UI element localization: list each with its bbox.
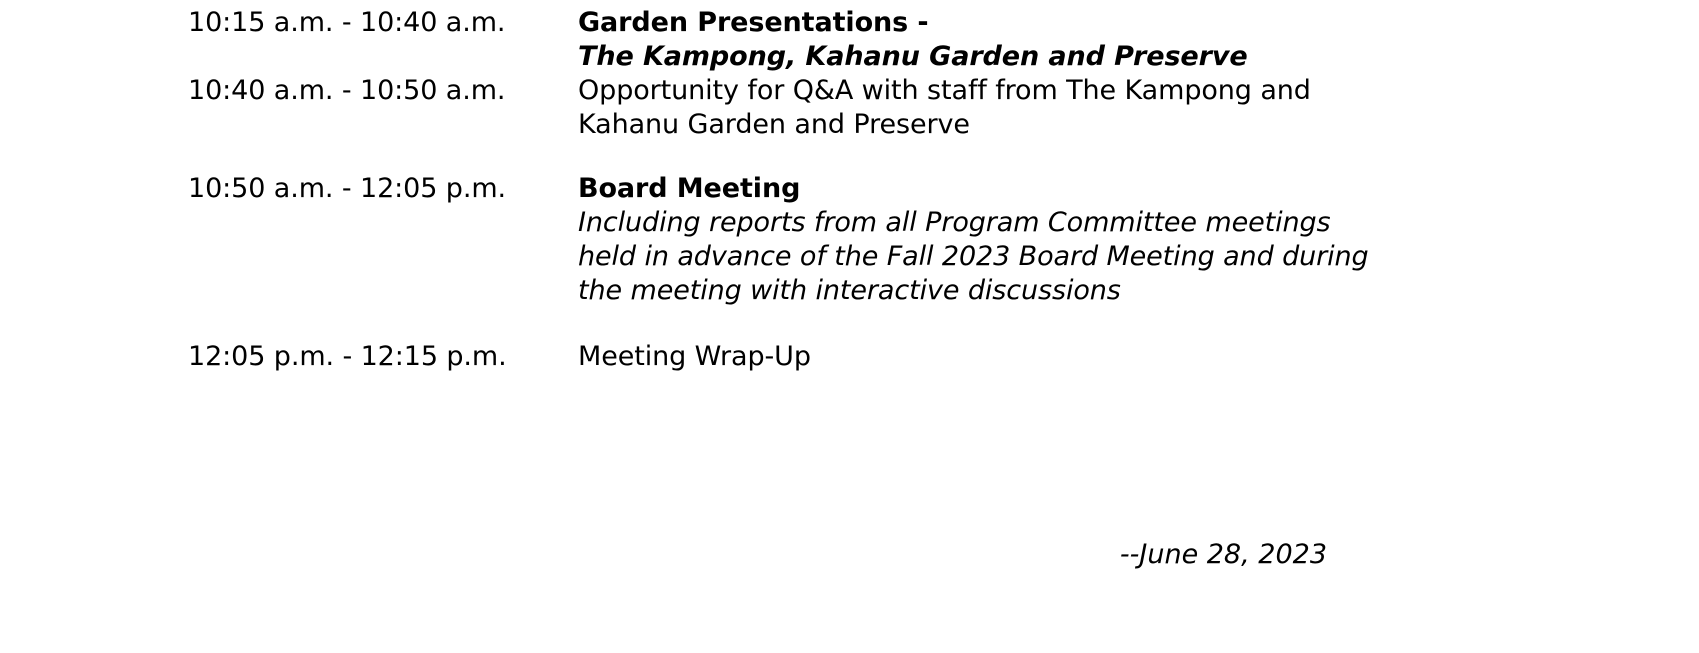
agenda-description: Opportunity for Q&A with staff from The … [578, 74, 1488, 142]
document-page: 10:15 a.m. - 10:40 a.m. Garden Presentat… [0, 0, 1699, 653]
agenda-description-line: the meeting with interactive discussions [578, 274, 1488, 308]
agenda-time: 10:50 a.m. - 12:05 p.m. [188, 172, 578, 206]
signature-date: --June 28, 2023 [1120, 538, 1327, 572]
agenda-description: Meeting Wrap-Up [578, 340, 1488, 374]
agenda-row: 10:40 a.m. - 10:50 a.m. Opportunity for … [188, 74, 1488, 142]
agenda-description-line: The Kampong, Kahanu Garden and Preserve [578, 40, 1488, 74]
agenda-description-line: Kahanu Garden and Preserve [578, 108, 1488, 142]
agenda-description-line: Meeting Wrap-Up [578, 340, 1488, 374]
agenda-row: 12:05 p.m. - 12:15 p.m. Meeting Wrap-Up [188, 340, 1488, 374]
agenda-time: 10:15 a.m. - 10:40 a.m. [188, 6, 578, 40]
agenda-description-line: Opportunity for Q&A with staff from The … [578, 74, 1488, 108]
row-spacer [188, 142, 1488, 172]
agenda-description-line: Garden Presentations - [578, 6, 1488, 40]
agenda-time: 12:05 p.m. - 12:15 p.m. [188, 340, 578, 374]
row-spacer [188, 308, 1488, 340]
agenda-description-line: Board Meeting [578, 172, 1488, 206]
agenda-row: 10:15 a.m. - 10:40 a.m. Garden Presentat… [188, 6, 1488, 74]
agenda-description-line: Including reports from all Program Commi… [578, 206, 1488, 240]
agenda-description: Garden Presentations - The Kampong, Kaha… [578, 6, 1488, 74]
agenda-row: 10:50 a.m. - 12:05 p.m. Board Meeting In… [188, 172, 1488, 308]
agenda-table: 10:15 a.m. - 10:40 a.m. Garden Presentat… [188, 6, 1488, 374]
agenda-description: Board Meeting Including reports from all… [578, 172, 1488, 308]
agenda-description-line: held in advance of the Fall 2023 Board M… [578, 240, 1488, 274]
agenda-time: 10:40 a.m. - 10:50 a.m. [188, 74, 578, 108]
